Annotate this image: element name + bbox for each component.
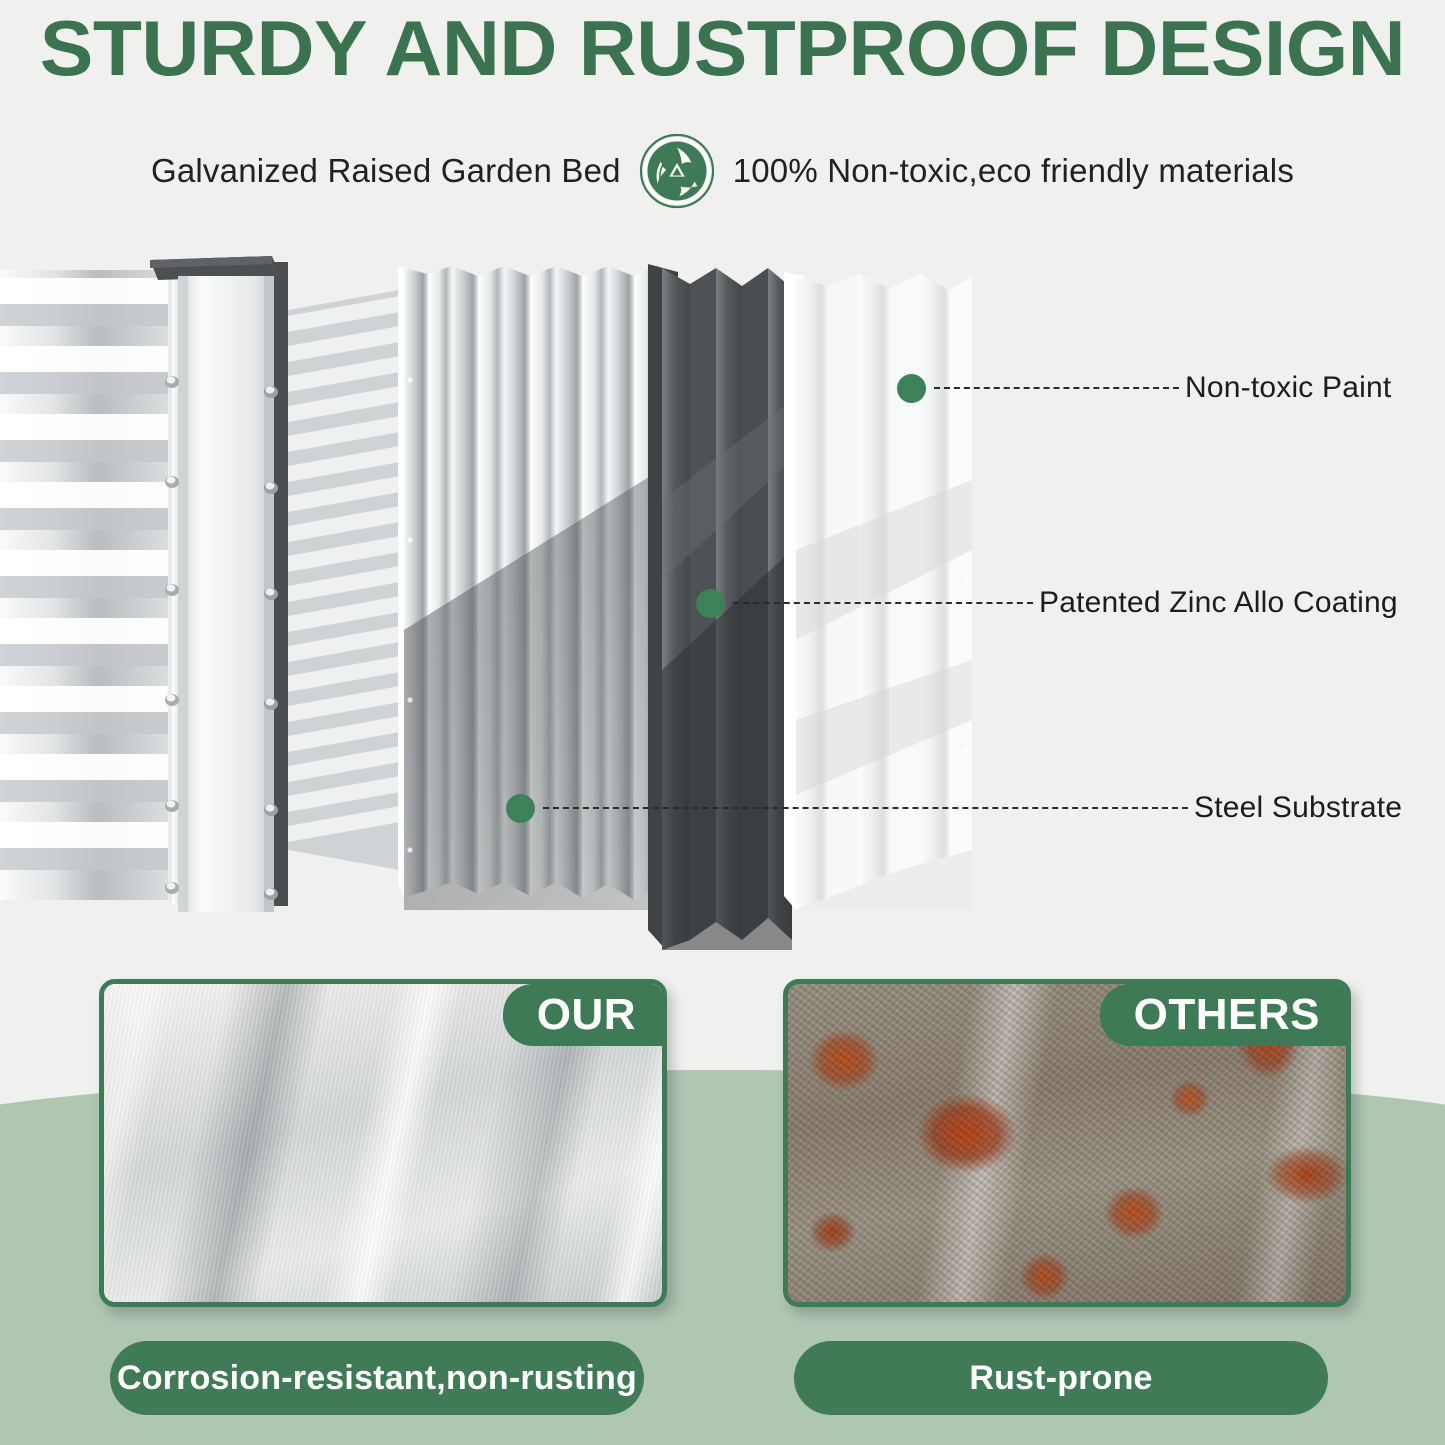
callout-steel-substrate: Steel Substrate	[506, 791, 1402, 825]
callout-label: Patented Zinc Allo Coating	[1039, 586, 1398, 620]
subtitle-left: Galvanized Raised Garden Bed	[151, 152, 621, 190]
callout-label: Non-toxic Paint	[1185, 371, 1391, 405]
callout-dot-icon	[506, 794, 535, 823]
callout-non-toxic-paint: Non-toxic Paint	[897, 371, 1391, 405]
bed-left-body	[0, 270, 170, 900]
callout-zinc-coating: Patented Zinc Allo Coating	[696, 586, 1398, 620]
comparison-panel-our: OUR	[99, 979, 667, 1307]
caption-pill-others: Rust-prone	[794, 1341, 1328, 1415]
callout-leader-line	[934, 387, 1179, 389]
infographic-canvas: STURDY AND RUSTPROOF DESIGN Galvanized R…	[0, 0, 1445, 1445]
callout-label: Steel Substrate	[1194, 791, 1402, 825]
caption-pill-our: Corrosion-resistant,non-rusting	[110, 1341, 644, 1415]
subtitle-right: 100% Non-toxic,eco friendly materials	[733, 152, 1294, 190]
comparison-panel-others: OTHERS	[783, 979, 1351, 1307]
page-title: STURDY AND RUSTPROOF DESIGN	[0, 6, 1445, 90]
bed-side-panel	[288, 290, 400, 870]
others-badge: OTHERS	[1100, 984, 1346, 1046]
subtitle-row: Galvanized Raised Garden Bed	[0, 133, 1445, 209]
callout-dot-icon	[897, 374, 926, 403]
callout-dot-icon	[696, 589, 725, 618]
callout-leader-line	[543, 807, 1188, 809]
our-badge: OUR	[503, 984, 662, 1046]
callout-leader-line	[733, 602, 1033, 604]
recycle-leaves-icon	[639, 133, 715, 209]
